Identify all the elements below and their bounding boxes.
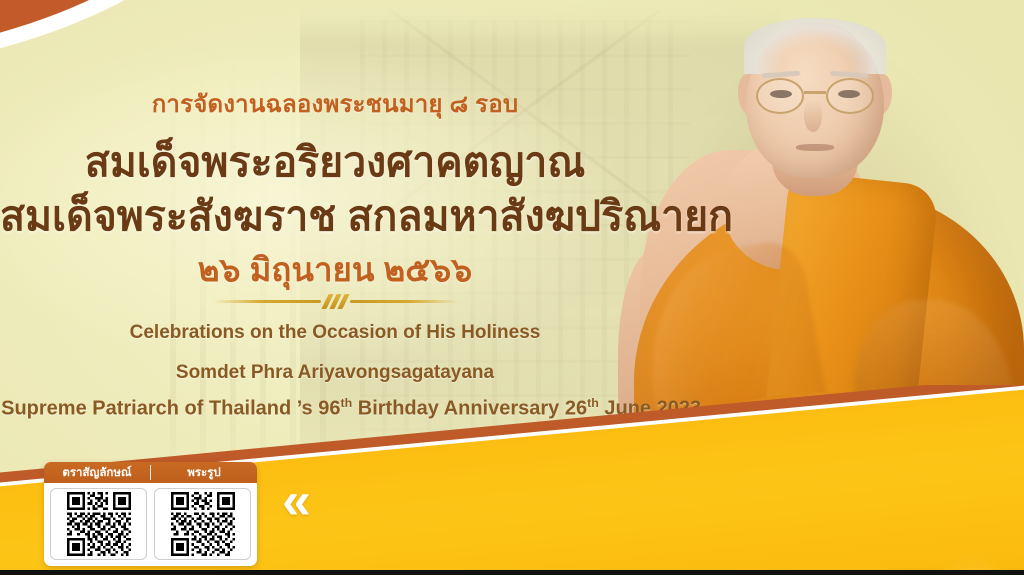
qr-label-emblem: ตราสัญลักษณ์ [44,462,150,483]
english-line-1: Celebrations on the Occasion of His Holi… [0,322,670,344]
date-thai: ๒๖ มิถุนายน ๒๕๖๖ [0,243,670,296]
qr-slot-emblem[interactable] [50,488,147,560]
poster-canvas: การจัดงานฉลองพระชนมายุ ๘ รอบ สมเด็จพระอร… [0,0,1024,575]
monk-mouth [796,144,834,151]
monk-hair [744,18,886,74]
monk-nose [804,100,822,132]
qr-card-body [44,483,257,565]
bottom-trim [0,570,1024,575]
qr-card-header: ตราสัญลักษณ์ พระรูป [44,462,257,483]
qr-slot-portrait[interactable] [154,488,251,560]
qr-code-portrait-icon[interactable] [171,492,235,556]
kicker-thai: การจัดงานฉลองพระชนมายุ ๘ รอบ [0,84,670,123]
qr-code-card: ตราสัญลักษณ์ พระรูป [44,462,257,566]
qr-code-emblem-icon[interactable] [67,492,131,556]
qr-label-portrait: พระรูป [151,462,257,483]
divider-ornament [0,292,670,310]
divider-slashes-icon [325,294,346,309]
title-line-2-thai: สมเด็จพระสังฆราช สกลมหาสังฆปริณายก [0,184,670,249]
english-line-2: Somdet Phra Ariyavongsagatayana [0,362,670,384]
double-chevron-left-icon: « [282,475,307,527]
